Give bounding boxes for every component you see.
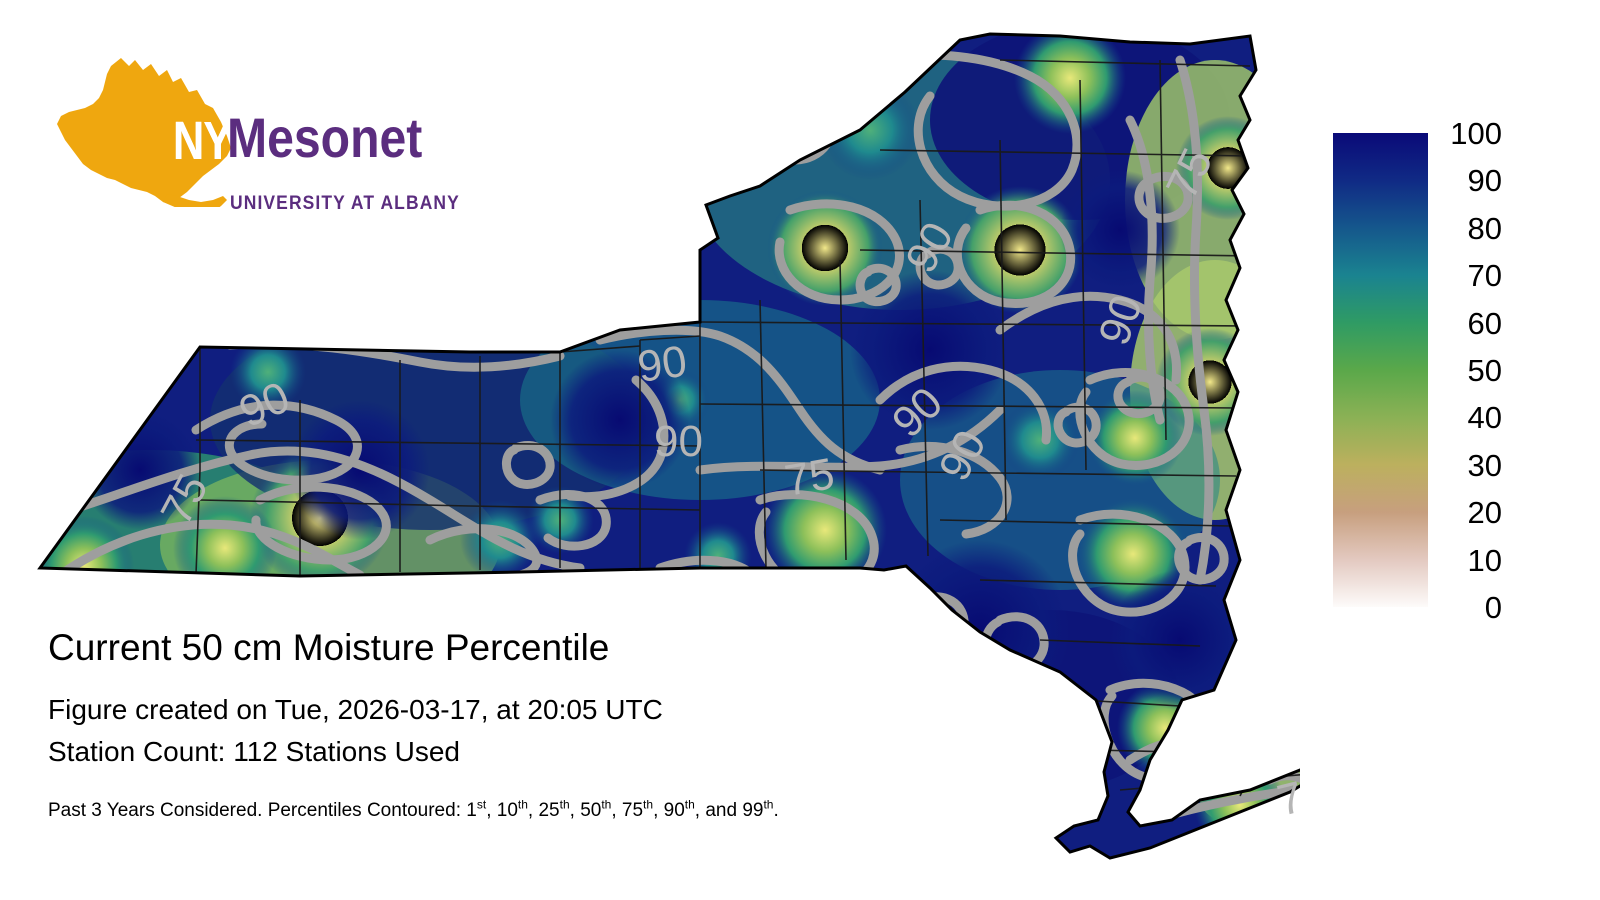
moisture-percentile-figure: 90 75 90 90 75 90 90 90 90 75 75 NYS Mes… bbox=[0, 0, 1600, 900]
svg-text:90: 90 bbox=[635, 337, 690, 392]
colorbar-tick-80: 80 bbox=[1440, 213, 1502, 244]
svg-text:75: 75 bbox=[1273, 766, 1300, 825]
colorbar-tick-90: 90 bbox=[1440, 165, 1502, 196]
colorbar-tick-10: 10 bbox=[1440, 545, 1502, 576]
colorbar-tick-20: 20 bbox=[1440, 497, 1502, 528]
logo-mesonet-text: Mesonet bbox=[227, 110, 422, 166]
created-timestamp: Figure created on Tue, 2026-03-17, at 20… bbox=[48, 689, 1048, 731]
colorbar-tick-50: 50 bbox=[1440, 355, 1502, 386]
colorbar-tick-70: 70 bbox=[1440, 260, 1502, 291]
colorbar-gradient bbox=[1333, 133, 1428, 607]
colorbar-tick-0: 0 bbox=[1440, 592, 1502, 623]
colorbar-tick-30: 30 bbox=[1440, 450, 1502, 481]
nys-mesonet-logo: NYS Mesonet UNIVERSITY AT ALBANY bbox=[55, 52, 400, 207]
page-title: Current 50 cm Moisture Percentile bbox=[48, 625, 1048, 671]
colorbar-tick-40: 40 bbox=[1440, 402, 1502, 433]
colorbar-tick-100: 100 bbox=[1440, 118, 1502, 149]
svg-text:90: 90 bbox=[654, 417, 703, 466]
figure-caption: Current 50 cm Moisture Percentile Figure… bbox=[48, 625, 1048, 823]
colorbar-tick-60: 60 bbox=[1440, 308, 1502, 339]
footnote: Past 3 Years Considered. Percentiles Con… bbox=[48, 799, 1048, 823]
percentile-colorbar bbox=[1333, 133, 1428, 607]
svg-text:75: 75 bbox=[781, 449, 838, 506]
colorbar-tick-labels: 1009080706050403020100 bbox=[1440, 105, 1560, 635]
logo-university-text: UNIVERSITY AT ALBANY bbox=[230, 194, 460, 213]
station-count: Station Count: 112 Stations Used bbox=[48, 731, 1048, 773]
